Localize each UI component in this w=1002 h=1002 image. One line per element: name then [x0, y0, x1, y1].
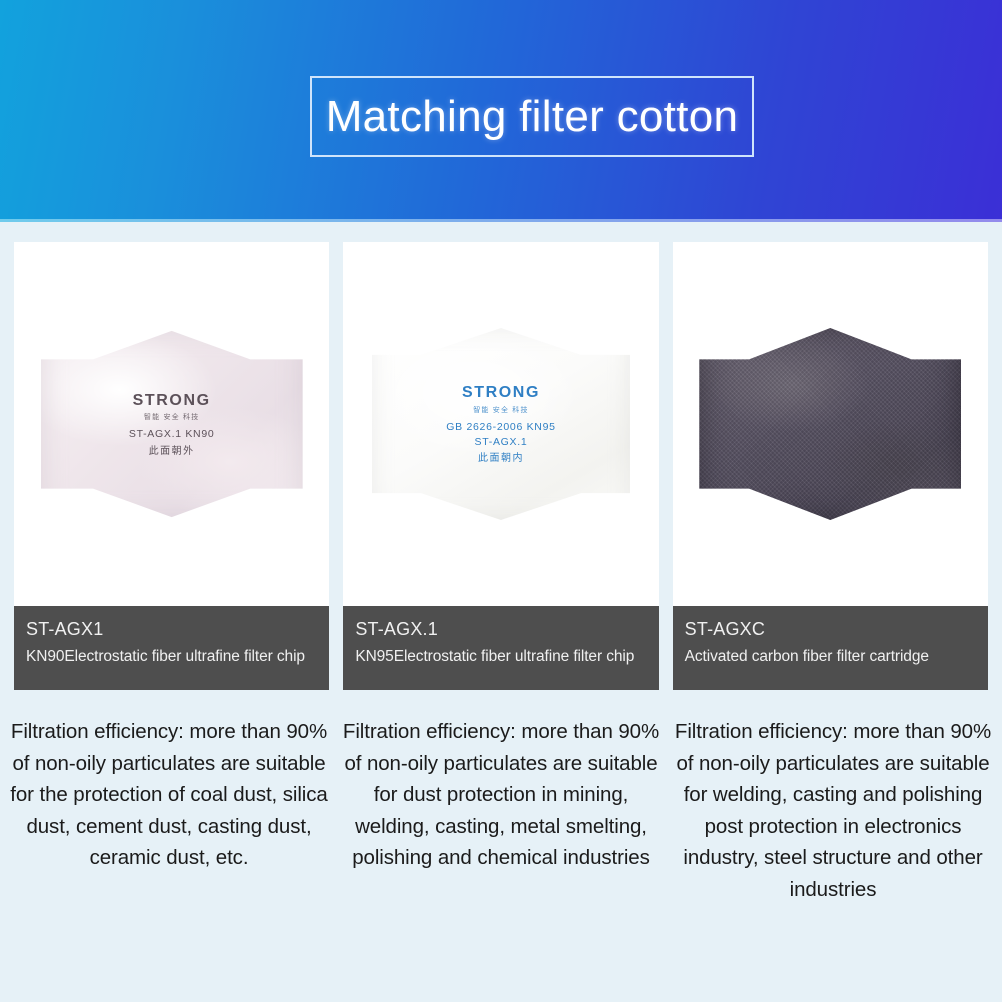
product-label-bar: ST-AGX1 KN90Electrostatic fiber ultrafin…: [14, 606, 329, 690]
product-card[interactable]: STRONG 智能 安全 科技 ST-AGX.1 KN90 此面朝外 ST-AG…: [14, 242, 329, 690]
brand-subtitle-cn: 智能 安全 科技: [129, 413, 215, 423]
product-label-text: KN90Electrostatic fiber ultrafine filter…: [26, 648, 317, 666]
pad-orientation-note: 此面朝外: [129, 445, 215, 460]
pad-model-line: ST-AGX.1: [446, 435, 555, 450]
product-label-text: Activated carbon fiber filter cartridge: [685, 648, 976, 666]
product-image-carbon: [673, 242, 988, 606]
pad-printed-text: STRONG 智能 安全 科技 ST-AGX.1 KN90 此面朝外: [129, 389, 215, 459]
header-underline: [0, 219, 1002, 222]
product-label-bar: ST-AGXC Activated carbon fiber filter ca…: [673, 606, 988, 690]
pad-printed-text: STRONG 智能 安全 科技 GB 2626-2006 KN95 ST-AGX…: [446, 381, 555, 466]
product-code: ST-AGX.1: [355, 619, 646, 640]
description-row: Filtration efficiency: more than 90% of …: [0, 716, 1002, 905]
product-card-row: STRONG 智能 安全 科技 ST-AGX.1 KN90 此面朝外 ST-AG…: [0, 242, 1002, 690]
brand-mark: STRONG: [129, 389, 215, 412]
brand-mark: STRONG: [446, 381, 555, 404]
page-title: Matching filter cotton: [326, 92, 739, 142]
product-label-text: KN95Electrostatic fiber ultrafine filter…: [355, 648, 646, 666]
header-banner: Matching filter cotton: [0, 0, 1002, 222]
product-card[interactable]: ST-AGXC Activated carbon fiber filter ca…: [673, 242, 988, 690]
brand-subtitle-cn: 智能 安全 科技: [446, 406, 555, 416]
filter-pad-kn95: STRONG 智能 安全 科技 GB 2626-2006 KN95 ST-AGX…: [372, 328, 630, 520]
product-description: Filtration efficiency: more than 90% of …: [10, 716, 328, 905]
product-infographic: Matching filter cotton STRONG 智能 安全 科技 S…: [0, 0, 1002, 1002]
filter-pad-activated-carbon: [699, 326, 961, 522]
product-code: ST-AGXC: [685, 619, 976, 640]
pad-model-line: ST-AGX.1 KN90: [129, 427, 215, 442]
product-code: ST-AGX1: [26, 619, 317, 640]
product-image-kn95: STRONG 智能 安全 科技 GB 2626-2006 KN95 ST-AGX…: [343, 242, 658, 606]
title-box: Matching filter cotton: [310, 76, 754, 157]
product-card[interactable]: STRONG 智能 安全 科技 GB 2626-2006 KN95 ST-AGX…: [343, 242, 658, 690]
product-description: Filtration efficiency: more than 90% of …: [342, 716, 660, 905]
pad-orientation-note: 此面朝内: [446, 452, 555, 467]
pad-standard-line: GB 2626-2006 KN95: [446, 420, 555, 435]
product-image-kn90: STRONG 智能 安全 科技 ST-AGX.1 KN90 此面朝外: [14, 242, 329, 606]
filter-pad-kn90: STRONG 智能 安全 科技 ST-AGX.1 KN90 此面朝外: [41, 329, 303, 519]
product-label-bar: ST-AGX.1 KN95Electrostatic fiber ultrafi…: [343, 606, 658, 690]
product-description: Filtration efficiency: more than 90% of …: [674, 716, 992, 905]
